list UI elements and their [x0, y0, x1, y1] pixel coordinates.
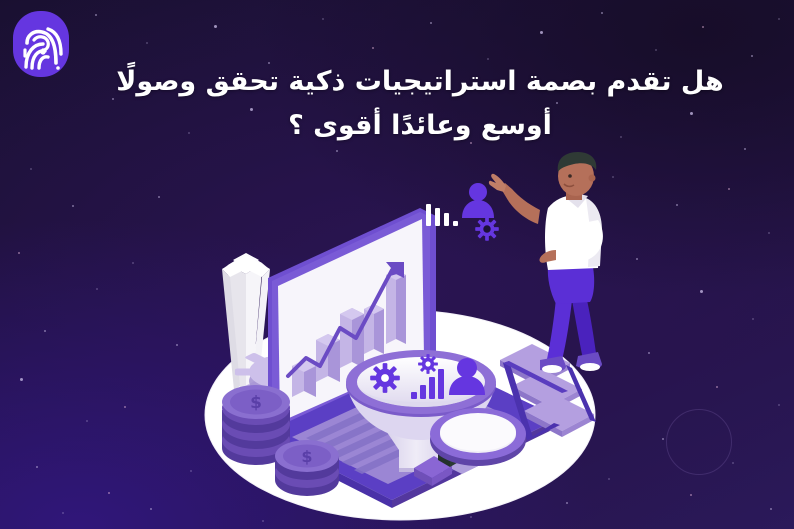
illustration: $ $: [0, 150, 794, 529]
poster-canvas: هل تقدم بصمة استراتيجيات ذكية تحقق وصولً…: [0, 0, 794, 529]
person-shoe-front: [576, 352, 602, 371]
floating-gear-outline-icon: [475, 217, 499, 241]
floating-person-icon: [462, 183, 494, 218]
coin-stack-short: $: [275, 440, 339, 496]
page-title-line2: أوسع وعائدًا أقوى ؟: [70, 104, 770, 148]
white-bar-chart-icon: [426, 204, 458, 226]
page-title: هل تقدم بصمة استراتيجيات ذكية تحقق وصولً…: [70, 60, 770, 147]
person-hand: [489, 174, 506, 192]
fingerprint-dot: [40, 49, 45, 54]
person-raised-arm: [500, 183, 540, 224]
svg-text:$: $: [301, 447, 312, 466]
page-title-line1: هل تقدم بصمة استراتيجيات ذكية تحقق وصولً…: [70, 60, 770, 104]
logo[interactable]: [12, 10, 70, 78]
funnel-small-gear-icon: [418, 354, 438, 374]
fingerprint-dot-small: [56, 66, 60, 70]
funnel-gear-icon: [370, 363, 400, 393]
svg-text:$: $: [250, 393, 262, 413]
